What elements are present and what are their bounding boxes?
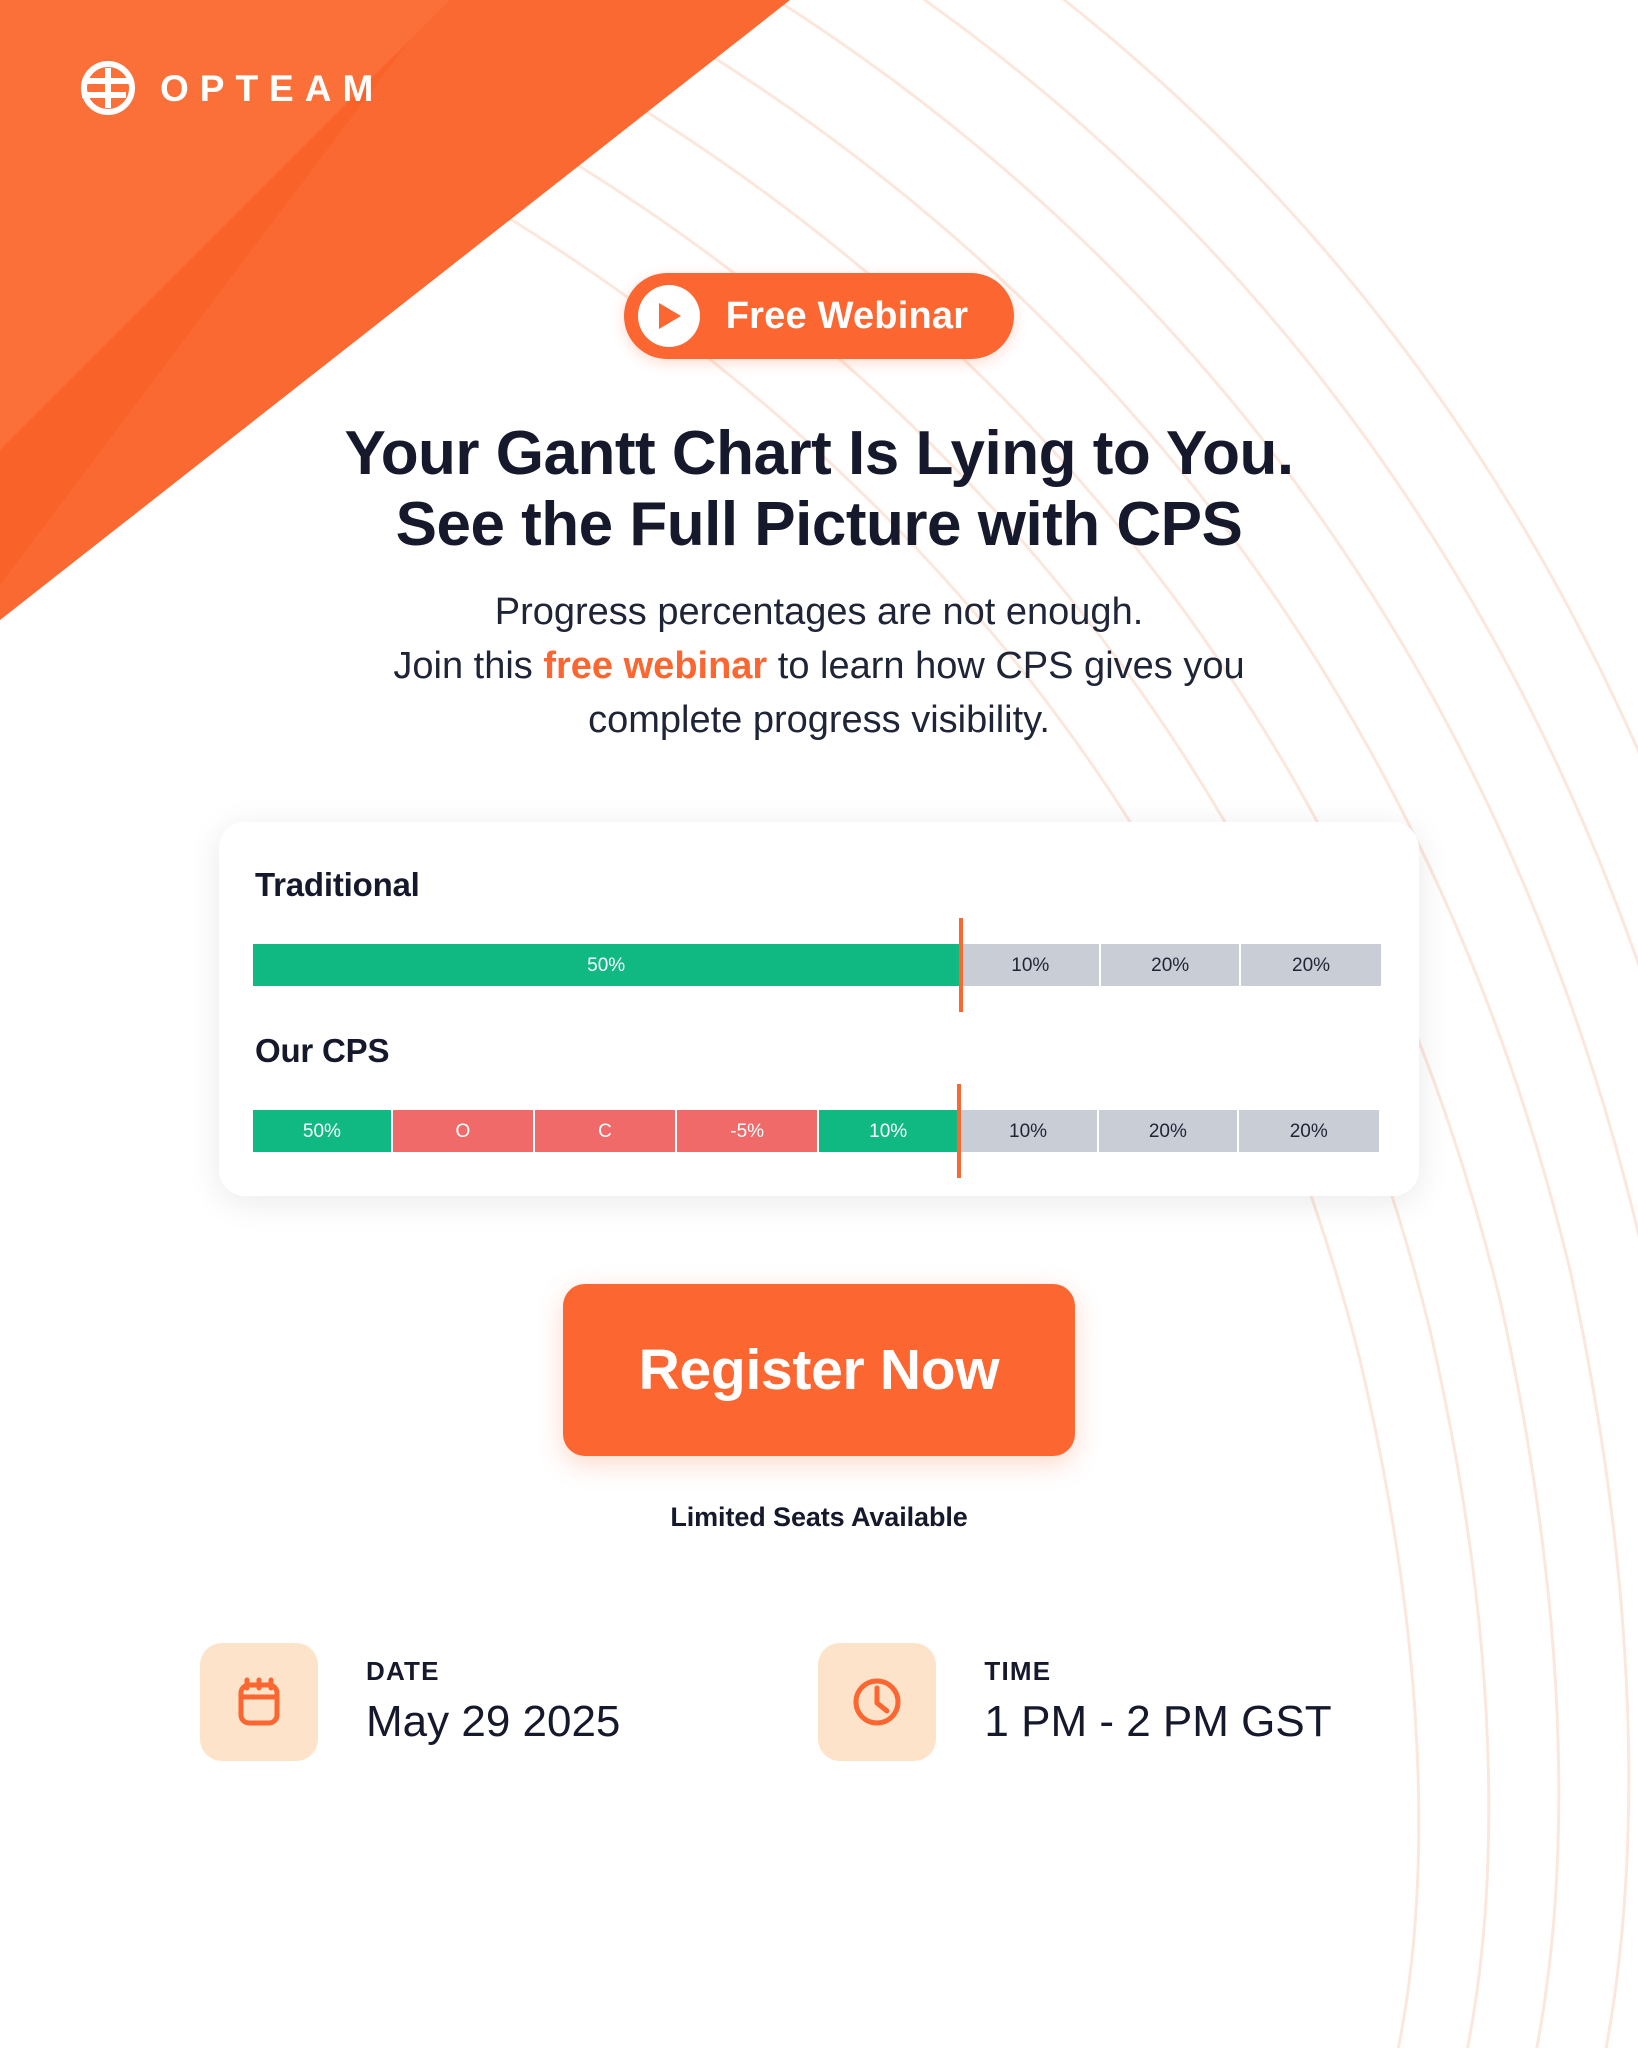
event-detail-date: DATEMay 29 2025: [200, 1643, 620, 1761]
headline-line-1: Your Gantt Chart Is Lying to You.: [104, 419, 1534, 490]
progress-segment: 20%: [1101, 944, 1241, 986]
progress-segment: 20%: [1099, 1110, 1239, 1152]
event-details: DATEMay 29 2025TIME1 PM - 2 PM GST: [200, 1643, 1638, 1761]
progress-segment: 10%: [959, 1110, 1099, 1152]
event-detail-text: DATEMay 29 2025: [366, 1658, 620, 1746]
segment-label: 20%: [1149, 1122, 1187, 1141]
event-detail-value: 1 PM - 2 PM GST: [984, 1698, 1331, 1746]
progress-segment: 50%: [253, 1110, 393, 1152]
segment-label: 10%: [1011, 956, 1049, 975]
clock-icon: [818, 1643, 936, 1761]
event-detail-label: TIME: [984, 1658, 1331, 1684]
progress-bar-track: 50%OC-5%10%10%20%20%: [253, 1110, 1385, 1152]
event-detail-value: May 29 2025: [366, 1698, 620, 1746]
group-title: Traditional: [253, 866, 1385, 904]
progress-bar: 50%10%20%20%: [253, 944, 1381, 986]
headline-line-2: See the Full Picture with CPS: [104, 490, 1534, 561]
segment-label: 50%: [587, 956, 625, 975]
segment-label: 10%: [1009, 1122, 1047, 1141]
comparison-group: Our CPS50%OC-5%10%10%20%20%: [253, 1032, 1385, 1152]
progress-segment: 10%: [819, 1110, 959, 1152]
poster-canvas: OPTEAM Free Webinar Your Gantt Chart Is …: [0, 0, 1638, 2048]
subtitle-line-2-suffix: to learn how CPS gives you: [767, 645, 1244, 687]
play-icon: [638, 285, 700, 347]
progress-bar: 50%OC-5%10%10%20%20%: [253, 1110, 1381, 1152]
progress-bar-track: 50%10%20%20%: [253, 944, 1385, 986]
status-marker-line: [959, 918, 963, 1012]
progress-segment: O: [393, 1110, 535, 1152]
segment-label: 20%: [1292, 956, 1330, 975]
event-detail-text: TIME1 PM - 2 PM GST: [984, 1658, 1331, 1746]
badge-label: Free Webinar: [726, 295, 968, 338]
cta-row: Register Now: [0, 1284, 1638, 1456]
segment-label: 50%: [303, 1122, 341, 1141]
event-detail-label: DATE: [366, 1658, 620, 1684]
progress-segment: 20%: [1239, 1110, 1379, 1152]
calendar-icon: [200, 1643, 318, 1761]
segment-label: O: [456, 1122, 471, 1141]
segment-label: 10%: [869, 1122, 907, 1141]
subtitle-line-1: Progress percentages are not enough.: [169, 586, 1469, 640]
progress-segment: C: [535, 1110, 677, 1152]
subtitle-highlight: free webinar: [543, 645, 767, 687]
badge-row: Free Webinar: [0, 273, 1638, 359]
progress-segment: -5%: [677, 1110, 819, 1152]
progress-segment: 10%: [961, 944, 1101, 986]
limited-seats-note: Limited Seats Available: [0, 1502, 1638, 1533]
page-title: Your Gantt Chart Is Lying to You. See th…: [104, 419, 1534, 560]
status-marker-line: [957, 1084, 961, 1178]
segment-label: 20%: [1151, 956, 1189, 975]
comparison-card: Traditional50%10%20%20%Our CPS50%OC-5%10…: [219, 822, 1419, 1196]
free-webinar-badge[interactable]: Free Webinar: [624, 273, 1014, 359]
progress-segment: 50%: [253, 944, 961, 986]
comparison-group: Traditional50%10%20%20%: [253, 866, 1385, 986]
progress-segment: 20%: [1241, 944, 1381, 986]
subtitle: Progress percentages are not enough. Joi…: [169, 586, 1469, 748]
segment-label: C: [598, 1122, 612, 1141]
event-detail-time: TIME1 PM - 2 PM GST: [818, 1643, 1331, 1761]
group-title: Our CPS: [253, 1032, 1385, 1070]
segment-label: -5%: [730, 1122, 764, 1141]
subtitle-line-2: Join this free webinar to learn how CPS …: [169, 640, 1469, 694]
segment-label: 20%: [1290, 1122, 1328, 1141]
register-now-button[interactable]: Register Now: [563, 1284, 1075, 1456]
subtitle-line-2-prefix: Join this: [393, 645, 543, 687]
subtitle-line-3: complete progress visibility.: [169, 694, 1469, 748]
comparison-groups: Traditional50%10%20%20%Our CPS50%OC-5%10…: [253, 866, 1385, 1152]
poster-content: Free Webinar Your Gantt Chart Is Lying t…: [0, 0, 1638, 1761]
